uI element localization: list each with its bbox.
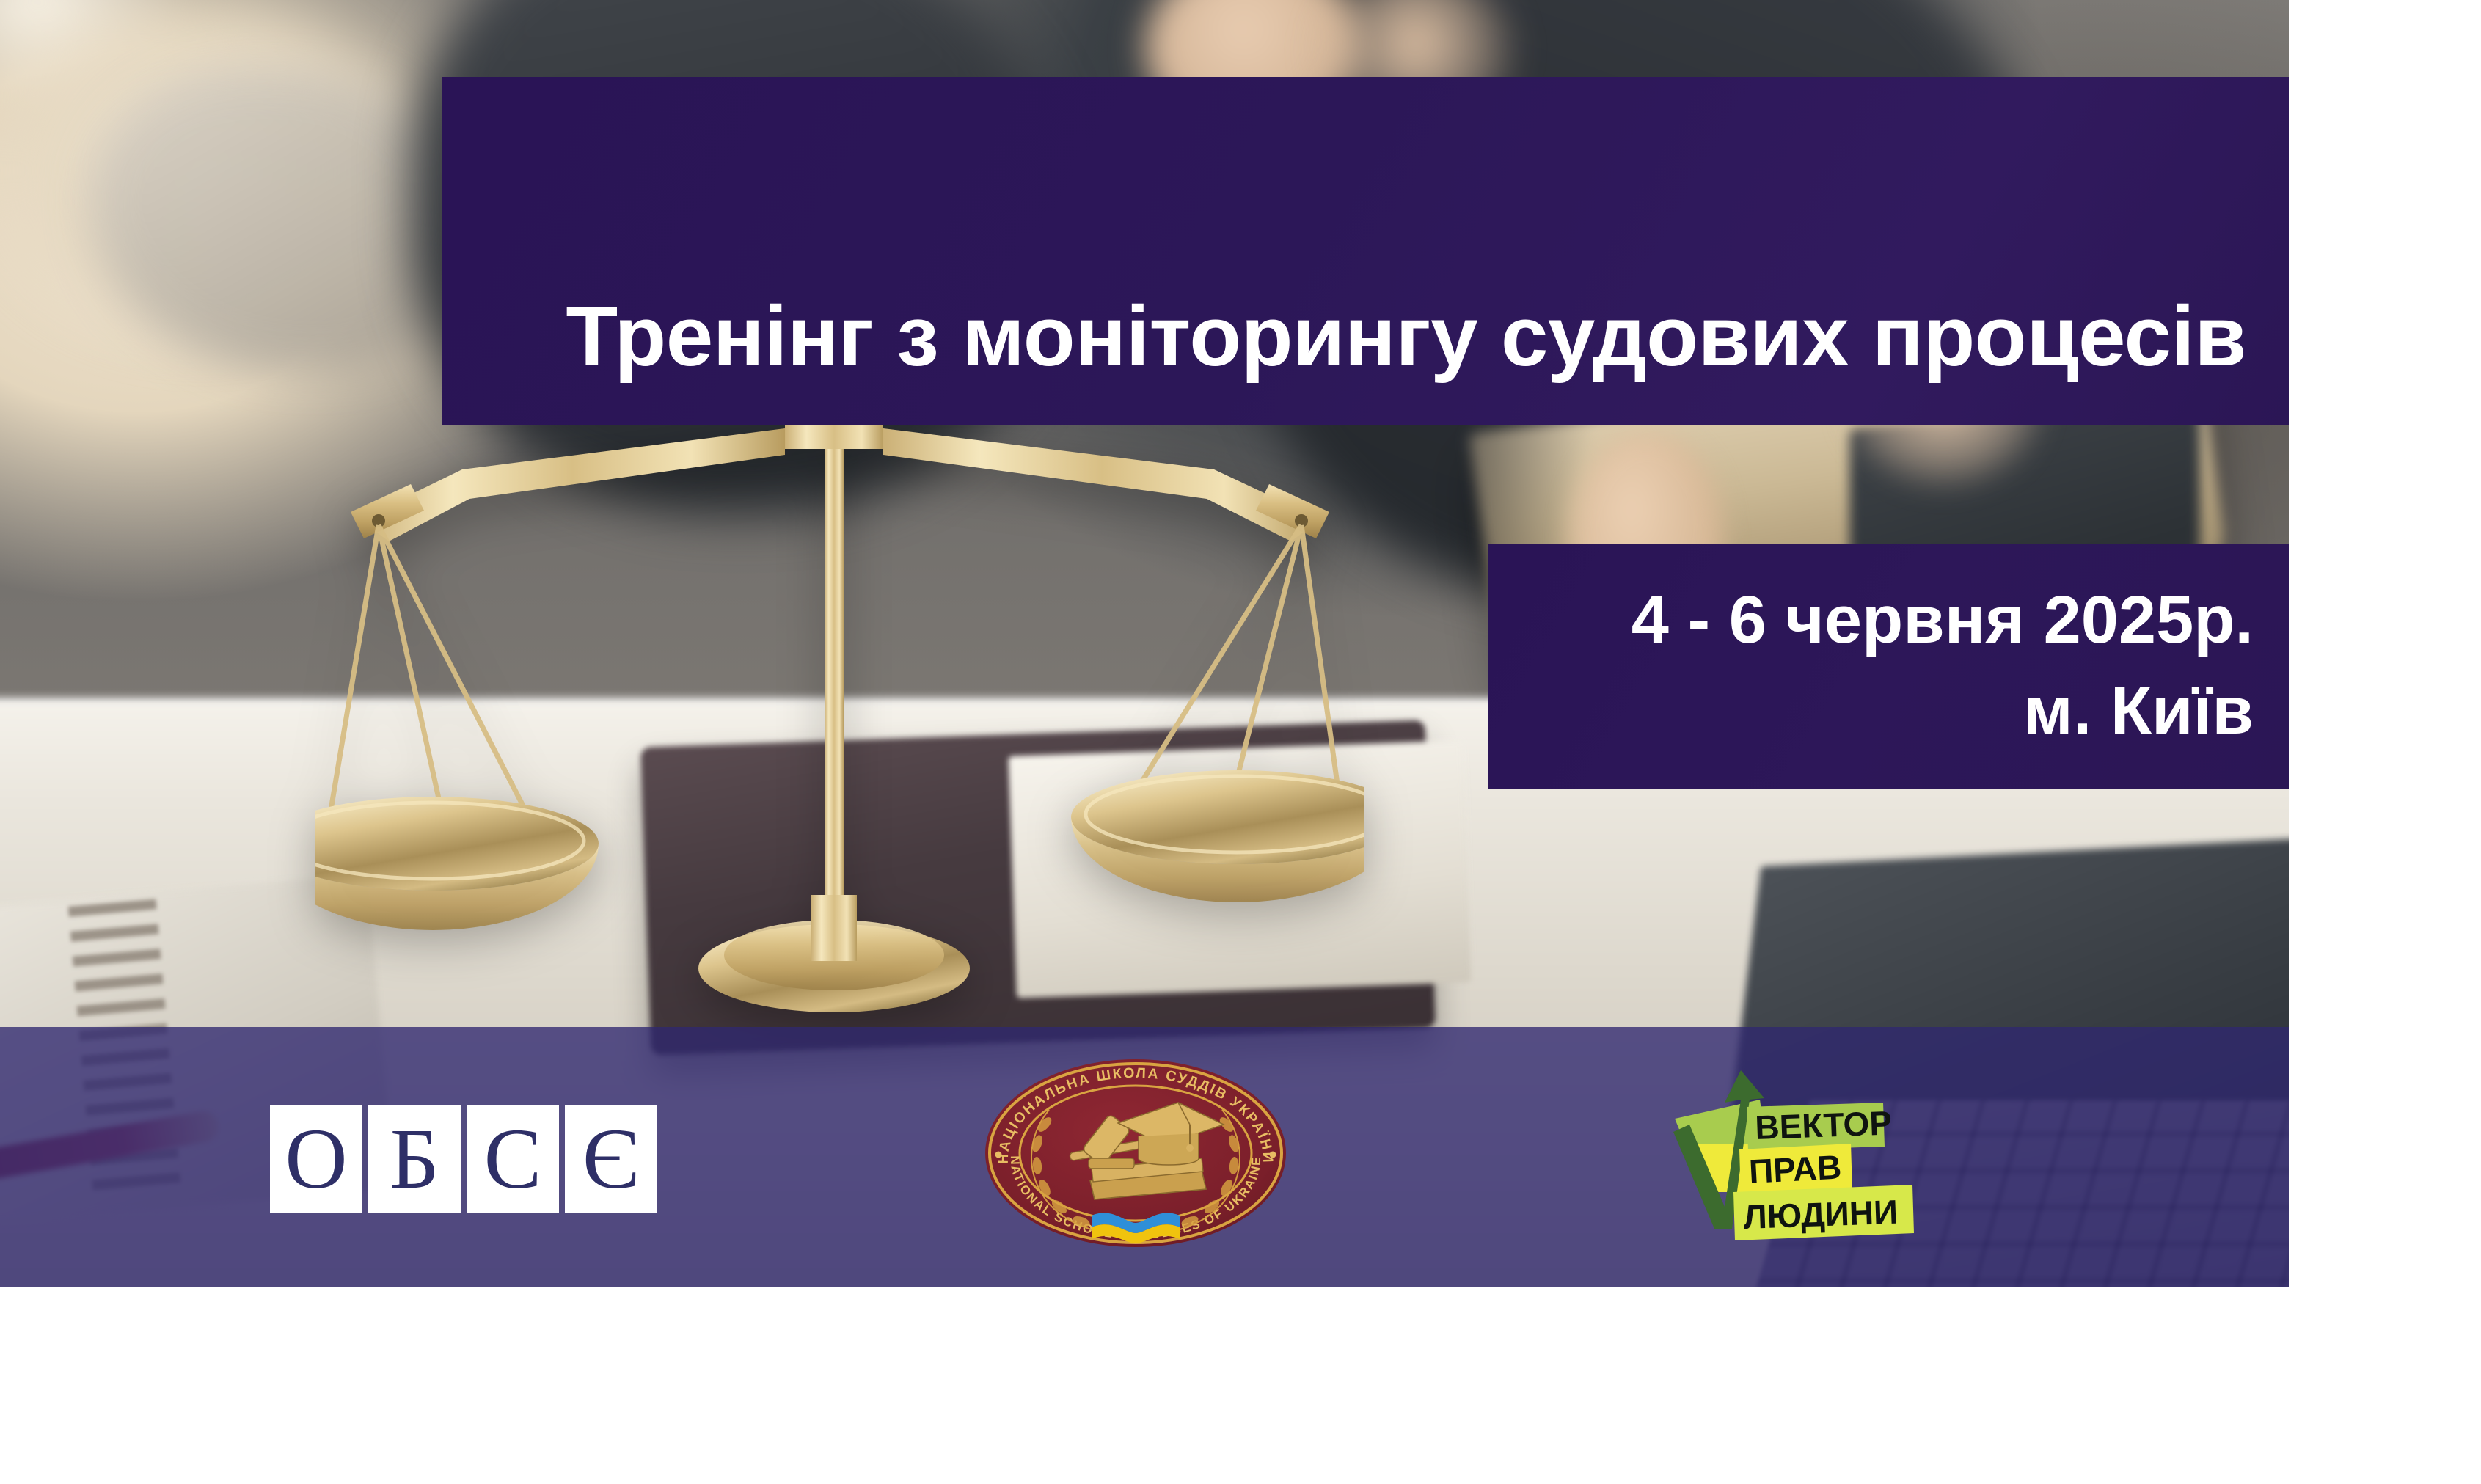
- osce-letter-box: О: [270, 1105, 362, 1213]
- vector-line-3: ЛЮДИНИ: [1743, 1193, 1899, 1236]
- scales-of-justice-icon: [315, 381, 1364, 1042]
- vector-line-1: ВЕКТОР: [1755, 1104, 1893, 1147]
- date-location-block: 4 - 6 червня 2025р. м. Київ: [1632, 574, 2254, 756]
- osce-letter-box: Є: [565, 1105, 657, 1213]
- page-title: Тренінг з моніторингу судових процесів: [486, 292, 2246, 381]
- osce-letter-box: Б: [368, 1105, 461, 1213]
- osce-letter-box: С: [467, 1105, 559, 1213]
- event-date: 4 - 6 червня 2025р.: [1632, 574, 2254, 665]
- date-banner: 4 - 6 червня 2025р. м. Київ: [1488, 544, 2289, 789]
- vector-human-rights-logo: ВЕКТОР ПРАВ ЛЮДИНИ: [1673, 1061, 1961, 1243]
- event-poster: Тренінг з моніторингу судових процесів 4…: [0, 0, 2289, 1287]
- title-banner: Тренінг з моніторингу судових процесів: [442, 77, 2289, 425]
- national-school-of-judges-seal: НАЦІОНАЛЬНА ШКОЛА СУДДІВ УКРАЇНИ NATIONA…: [982, 1057, 1290, 1249]
- osce-logo: О Б С Є: [270, 1105, 657, 1213]
- vector-line-2: ПРАВ: [1748, 1147, 1843, 1191]
- event-city: м. Київ: [1632, 665, 2254, 756]
